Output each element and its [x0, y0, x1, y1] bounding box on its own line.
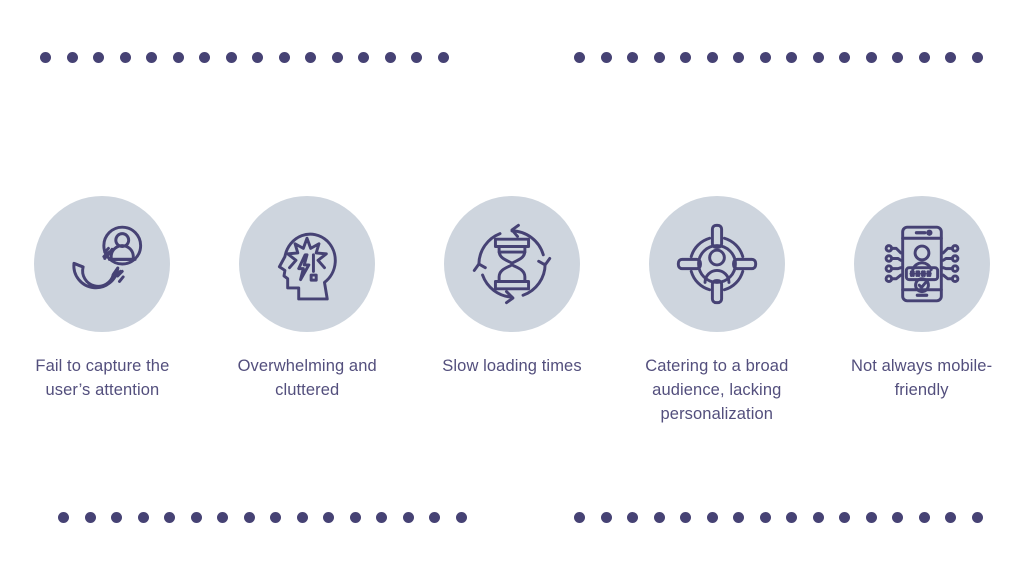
- list-item: Overwhelming and cluttered: [205, 196, 410, 403]
- decorative-dot: [164, 512, 175, 523]
- decorative-dot: [839, 512, 850, 523]
- decorative-dot: [199, 52, 210, 63]
- decorative-dot: [654, 512, 665, 523]
- decorative-dot: [350, 512, 361, 523]
- decorative-dot: [760, 52, 771, 63]
- decorative-dot: [813, 52, 824, 63]
- decorative-dot: [244, 512, 255, 523]
- pain-point-list: Fail to capture the user’s attention Ove…: [0, 196, 1024, 427]
- decorative-dot: [972, 512, 983, 523]
- decorative-dot: [813, 512, 824, 523]
- dot-row-bottom-right: [574, 512, 983, 523]
- decorative-dot: [138, 512, 149, 523]
- decorative-dot: [972, 52, 983, 63]
- list-item-label: Overwhelming and cluttered: [215, 355, 400, 403]
- decorative-dot: [892, 52, 903, 63]
- decorative-dot: [376, 512, 387, 523]
- decorative-dot: [707, 52, 718, 63]
- slide-canvas: Fail to capture the user’s attention Ove…: [0, 0, 1024, 585]
- decorative-dot: [146, 52, 157, 63]
- decorative-dot: [733, 52, 744, 63]
- decorative-dot: [120, 52, 131, 63]
- target-audience-icon: [671, 218, 763, 310]
- icon-badge-magnet: [34, 196, 170, 332]
- decorative-dot: [226, 52, 237, 63]
- decorative-dot: [627, 512, 638, 523]
- dot-row-bottom-left: [58, 512, 467, 523]
- decorative-dot: [305, 52, 316, 63]
- list-item: Slow loading times: [410, 196, 615, 379]
- list-item-label: Slow loading times: [419, 355, 604, 379]
- decorative-dot: [297, 512, 308, 523]
- decorative-dot: [866, 512, 877, 523]
- decorative-dot: [411, 52, 422, 63]
- decorative-dot: [839, 52, 850, 63]
- icon-badge-hourglass: [444, 196, 580, 332]
- list-item-label: Not always mobile- friendly: [829, 355, 1014, 403]
- decorative-dot: [919, 52, 930, 63]
- decorative-dot: [456, 512, 467, 523]
- decorative-dot: [40, 52, 51, 63]
- decorative-dot: [892, 512, 903, 523]
- decorative-dot: [786, 52, 797, 63]
- decorative-dot: [707, 512, 718, 523]
- head-overwhelmed-icon: [261, 218, 353, 310]
- decorative-dot: [680, 512, 691, 523]
- decorative-dot: [786, 512, 797, 523]
- decorative-dot: [627, 52, 638, 63]
- decorative-dot: [866, 52, 877, 63]
- decorative-dot: [191, 512, 202, 523]
- list-item-label: Catering to a broad audience, lacking pe…: [624, 355, 809, 427]
- decorative-dot: [438, 52, 449, 63]
- hourglass-loading-icon: [466, 218, 558, 310]
- decorative-dot: [760, 512, 771, 523]
- icon-badge-head: [239, 196, 375, 332]
- decorative-dot: [93, 52, 104, 63]
- decorative-dot: [67, 52, 78, 63]
- decorative-dot: [919, 512, 930, 523]
- decorative-dot: [173, 52, 184, 63]
- decorative-dot: [358, 52, 369, 63]
- decorative-dot: [279, 52, 290, 63]
- decorative-dot: [945, 512, 956, 523]
- decorative-dot: [429, 512, 440, 523]
- list-item: Catering to a broad audience, lacking pe…: [614, 196, 819, 427]
- decorative-dot: [332, 52, 343, 63]
- decorative-dot: [403, 512, 414, 523]
- decorative-dot: [323, 512, 334, 523]
- dot-row-top-right: [574, 52, 983, 63]
- list-item-label: Fail to capture the user’s attention: [10, 355, 195, 403]
- list-item: Fail to capture the user’s attention: [0, 196, 205, 403]
- decorative-dot: [733, 512, 744, 523]
- decorative-dot: [217, 512, 228, 523]
- decorative-dot: [654, 52, 665, 63]
- magnet-attract-user-icon: [56, 218, 148, 310]
- dot-row-top-left: [40, 52, 449, 63]
- decorative-dot: [574, 52, 585, 63]
- list-item: Not always mobile- friendly: [819, 196, 1024, 403]
- decorative-dot: [385, 52, 396, 63]
- icon-badge-mobile: [854, 196, 990, 332]
- decorative-dot: [601, 512, 612, 523]
- decorative-dot: [111, 512, 122, 523]
- decorative-dot: [252, 52, 263, 63]
- icon-badge-target: [649, 196, 785, 332]
- decorative-dot: [58, 512, 69, 523]
- mobile-login-icon: [876, 218, 968, 310]
- decorative-dot: [85, 512, 96, 523]
- decorative-dot: [270, 512, 281, 523]
- decorative-dot: [574, 512, 585, 523]
- decorative-dot: [680, 52, 691, 63]
- decorative-dot: [601, 52, 612, 63]
- decorative-dot: [945, 52, 956, 63]
